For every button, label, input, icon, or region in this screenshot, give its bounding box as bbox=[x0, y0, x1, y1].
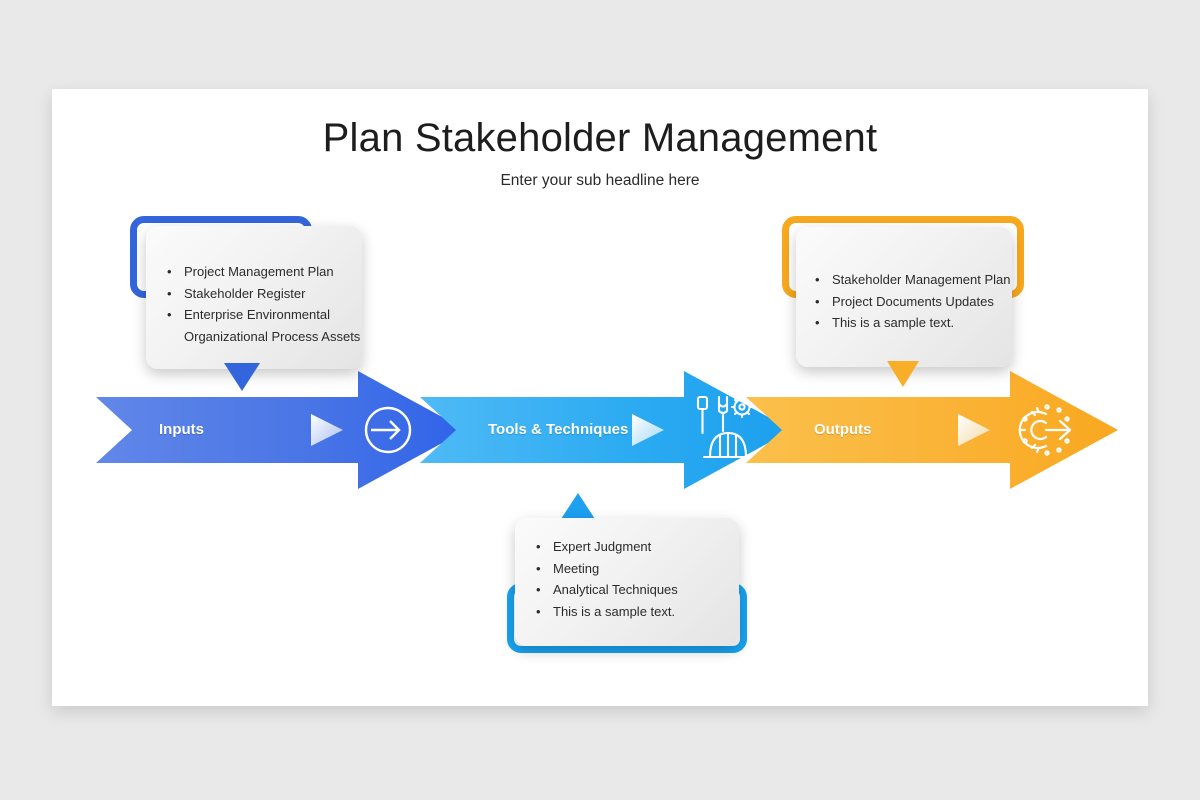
bullet-dot: • bbox=[167, 304, 172, 326]
bullet-dot: • bbox=[536, 579, 541, 601]
page-subtitle: Enter your sub headline here bbox=[52, 172, 1148, 190]
outputs-label: Outputs bbox=[814, 421, 872, 438]
list-item: • This is a sample text. bbox=[812, 312, 1011, 334]
list-item: • Expert Judgment bbox=[533, 536, 678, 558]
tools-callout-card: • Expert Judgment • Meeting • Analytical… bbox=[515, 518, 739, 646]
list-item-text: Project Management Plan bbox=[184, 264, 334, 279]
inputs-label: Inputs bbox=[159, 421, 204, 438]
list-item-text: Organizational Process Assets bbox=[184, 329, 360, 344]
list-item: • Analytical Techniques bbox=[533, 579, 678, 601]
tools-callout-pointer bbox=[561, 493, 595, 519]
inputs-callout-pointer bbox=[224, 363, 260, 391]
list-item-text: Enterprise Environmental bbox=[184, 307, 330, 322]
list-item-text: This is a sample text. bbox=[832, 315, 954, 330]
slide-canvas: Plan Stakeholder Management Enter your s… bbox=[52, 89, 1148, 706]
tools-bullet-list: • Expert Judgment • Meeting • Analytical… bbox=[533, 536, 678, 622]
outputs-bullet-list: • Stakeholder Management Plan • Project … bbox=[812, 269, 1011, 334]
bullet-dot: • bbox=[536, 601, 541, 623]
list-item: Organizational Process Assets bbox=[164, 326, 360, 348]
callout-inputs[interactable]: • Project Management Plan • Stakeholder … bbox=[130, 216, 380, 391]
list-item: • Stakeholder Register bbox=[164, 283, 360, 305]
screenshot-stage: Plan Stakeholder Management Enter your s… bbox=[0, 0, 1200, 800]
list-item-text: Expert Judgment bbox=[553, 539, 651, 554]
callout-tools[interactable]: • Expert Judgment • Meeting • Analytical… bbox=[453, 493, 703, 665]
list-item-text: Stakeholder Management Plan bbox=[832, 272, 1011, 287]
list-item-text: This is a sample text. bbox=[553, 604, 675, 619]
tools-label: Tools & Techniques bbox=[488, 421, 628, 438]
bullet-dot: • bbox=[167, 261, 172, 283]
outputs-callout-pointer bbox=[887, 361, 919, 387]
page-title: Plan Stakeholder Management bbox=[52, 116, 1148, 161]
bullet-dot: • bbox=[167, 283, 172, 305]
bullet-dot: • bbox=[815, 269, 820, 291]
bullet-dot: • bbox=[536, 536, 541, 558]
list-item-text: Analytical Techniques bbox=[553, 582, 678, 597]
inputs-callout-card: • Project Management Plan • Stakeholder … bbox=[146, 226, 362, 369]
bullet-dot: • bbox=[536, 558, 541, 580]
bullet-dot: • bbox=[815, 312, 820, 334]
process-step-tools[interactable]: Tools & Techniques bbox=[420, 371, 792, 489]
list-item: • Project Documents Updates bbox=[812, 291, 1011, 313]
list-item: • Stakeholder Management Plan bbox=[812, 269, 1011, 291]
outputs-callout-card: • Stakeholder Management Plan • Project … bbox=[796, 227, 1012, 367]
list-item-text: Stakeholder Register bbox=[184, 286, 305, 301]
list-item: • Project Management Plan bbox=[164, 261, 360, 283]
list-item-text: Meeting bbox=[553, 561, 599, 576]
list-item-text: Project Documents Updates bbox=[832, 294, 994, 309]
list-item: • This is a sample text. bbox=[533, 601, 678, 623]
inputs-bullet-list: • Project Management Plan • Stakeholder … bbox=[164, 261, 360, 347]
list-item: • Meeting bbox=[533, 558, 678, 580]
list-item: • Enterprise Environmental bbox=[164, 304, 360, 326]
callout-outputs[interactable]: • Stakeholder Management Plan • Project … bbox=[782, 216, 1032, 391]
bullet-dot: • bbox=[815, 291, 820, 313]
